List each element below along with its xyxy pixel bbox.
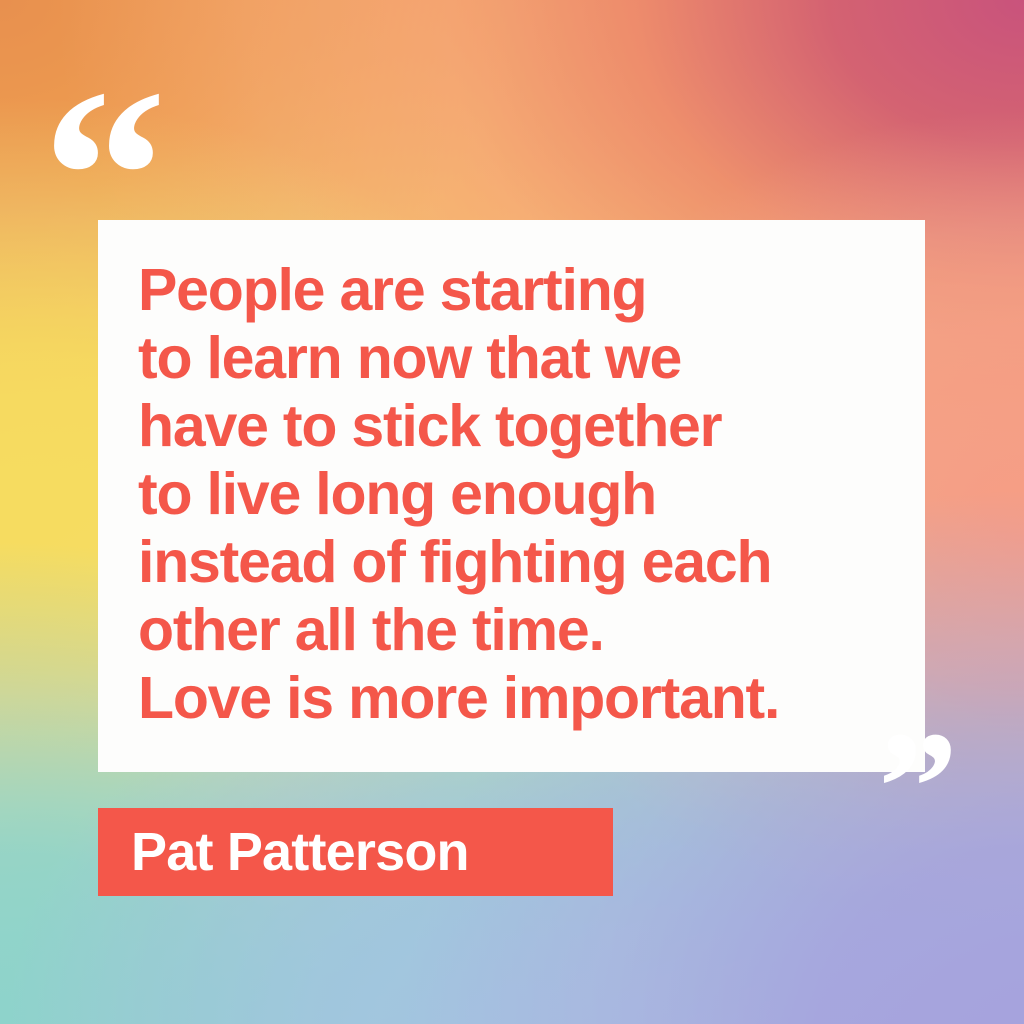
author-name: Pat Patterson (131, 825, 469, 879)
author-banner: Pat Patterson (98, 808, 613, 896)
closing-quotation-mark-icon: ” (878, 707, 956, 867)
quote-graphic: “ People are starting to learn now that … (0, 0, 1024, 1024)
quote-text: People are starting to learn now that we… (138, 256, 895, 732)
quote-card: People are starting to learn now that we… (98, 220, 925, 772)
